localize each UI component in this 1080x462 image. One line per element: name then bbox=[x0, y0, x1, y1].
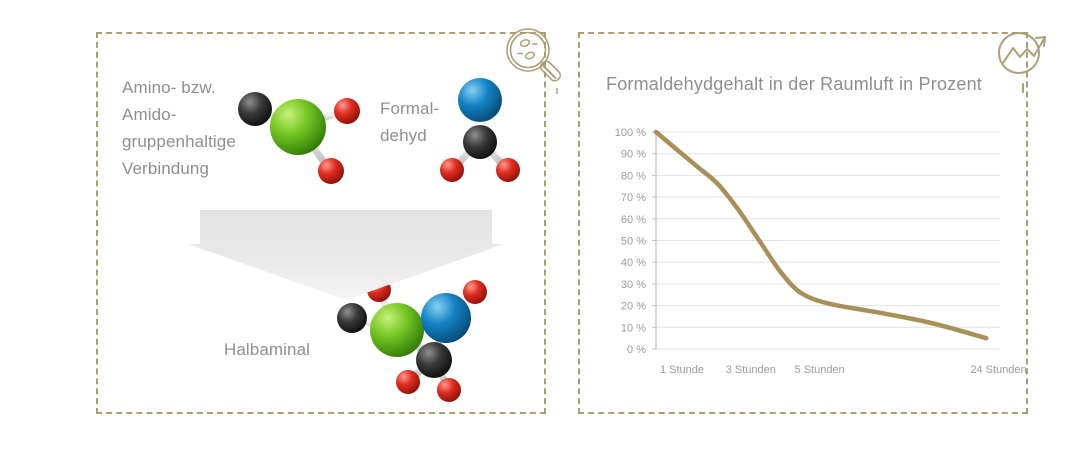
magnifier-molecules-icon bbox=[498, 22, 572, 96]
y-tick-label: 0 % bbox=[627, 344, 646, 356]
x-tick-label: 3 Stunden bbox=[726, 364, 776, 376]
x-tick-label: 24 Stunden bbox=[970, 364, 1026, 376]
y-axis-labels: 100 %90 %80 %70 %60 %50 %40 %30 %20 %10 … bbox=[615, 127, 646, 356]
amine-molecule bbox=[228, 82, 368, 192]
grid-lines bbox=[652, 132, 1000, 349]
y-tick-label: 50 % bbox=[621, 236, 646, 248]
y-tick-label: 100 % bbox=[615, 127, 646, 139]
line-chart: 100 %90 %80 %70 %60 %50 %40 %30 %20 %10 … bbox=[596, 120, 1008, 380]
y-tick-label: 20 % bbox=[621, 301, 646, 313]
y-tick-label: 10 % bbox=[621, 322, 646, 334]
y-tick-label: 80 % bbox=[621, 170, 646, 182]
y-tick-label: 40 % bbox=[621, 257, 646, 269]
chart-series-line bbox=[656, 132, 986, 338]
y-tick-label: 90 % bbox=[621, 149, 646, 161]
x-tick-label: 1 Stunde bbox=[660, 364, 704, 376]
y-tick-label: 60 % bbox=[621, 214, 646, 226]
y-tick-label: 70 % bbox=[621, 192, 646, 204]
y-tick-label: 30 % bbox=[621, 279, 646, 291]
x-axis-labels: 1 Stunde3 Stunden5 Stunden24 Stunden bbox=[660, 364, 1027, 376]
x-tick-label: 5 Stunden bbox=[795, 364, 845, 376]
chart-title: Formaldehydgehalt in der Raumluft in Pro… bbox=[606, 74, 982, 95]
reaction-arrow bbox=[186, 202, 506, 302]
